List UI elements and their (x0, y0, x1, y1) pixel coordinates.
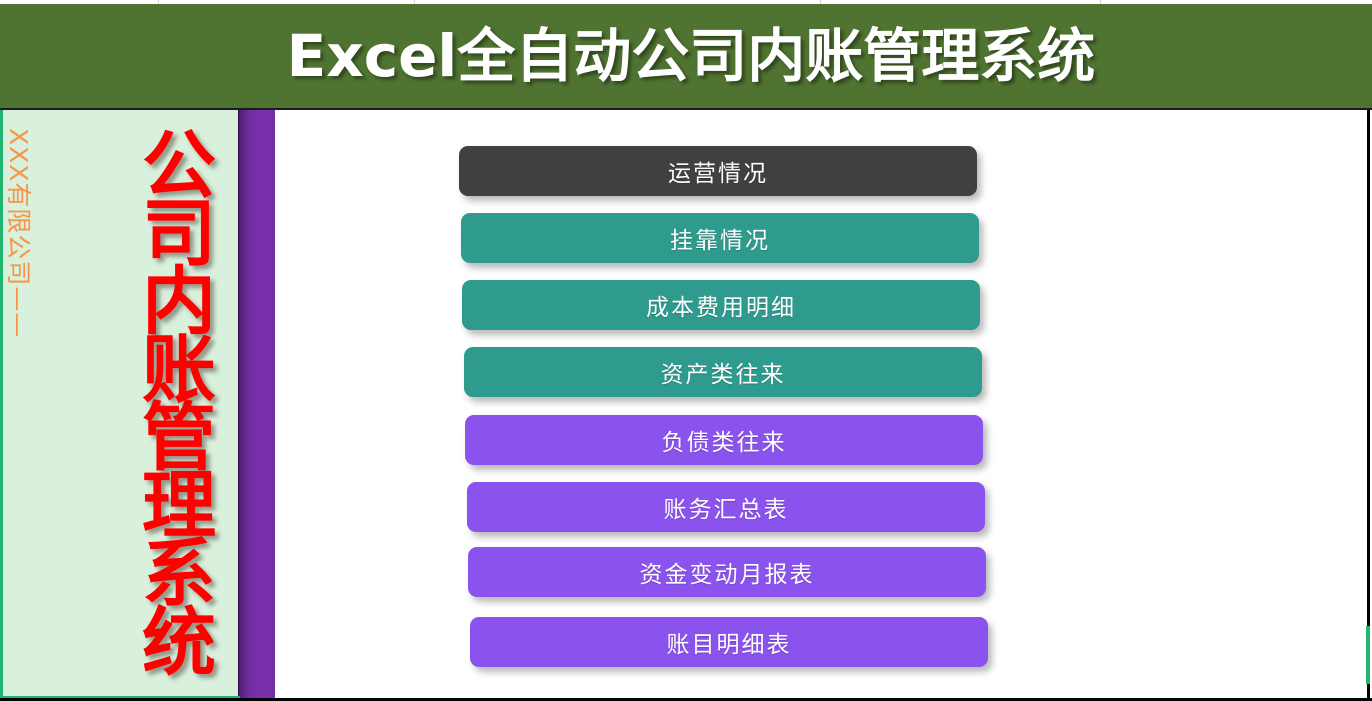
title-char: 内 (131, 268, 227, 336)
title-char: 系 (131, 540, 227, 608)
menu-button-label: 账目明细表 (667, 625, 792, 659)
menu-button-label: 资产类往来 (661, 355, 786, 389)
page-title: Excel全自动公司内账管理系统 (287, 27, 1096, 85)
right-border (1367, 110, 1370, 699)
menu-button-7[interactable]: 资金变动月报表 (468, 547, 986, 597)
menu-button-label: 负债类往来 (662, 423, 787, 457)
menu-button-1[interactable]: 运营情况 (459, 146, 977, 196)
menu-button-label: 运营情况 (668, 154, 768, 188)
sidebar-panel: XXX有限公司—— 公 司 内 账 管 理 系 统 (3, 110, 238, 699)
right-edge-accent-segment (1366, 626, 1370, 684)
menu-button-4[interactable]: 资产类往来 (464, 347, 982, 397)
title-char: 司 (131, 200, 227, 268)
main-content-panel (275, 110, 1370, 699)
title-char: 理 (131, 472, 227, 540)
title-char: 统 (131, 609, 227, 677)
excel-dashboard-sheet: Excel全自动公司内账管理系统 XXX有限公司—— 公 司 内 账 管 理 系… (0, 0, 1372, 701)
company-name-label: XXX有限公司—— (6, 128, 31, 338)
company-name-rotated: XXX有限公司—— (11, 128, 51, 428)
menu-button-6[interactable]: 账务汇总表 (467, 482, 985, 532)
menu-button-2[interactable]: 挂靠情况 (461, 213, 979, 263)
title-char: 账 (131, 336, 227, 404)
title-char: 公 (131, 132, 227, 200)
menu-button-8[interactable]: 账目明细表 (470, 617, 988, 667)
sidebar-accent-strip (238, 110, 275, 699)
sidebar-system-title: 公 司 内 账 管 理 系 统 (131, 132, 227, 677)
title-char: 管 (131, 404, 227, 472)
header-banner: Excel全自动公司内账管理系统 (0, 4, 1372, 108)
menu-button-label: 账务汇总表 (664, 490, 789, 524)
menu-button-label: 挂靠情况 (670, 221, 770, 255)
menu-button-label: 资金变动月报表 (640, 555, 815, 589)
menu-button-label: 成本费用明细 (646, 288, 796, 322)
menu-button-5[interactable]: 负债类往来 (465, 415, 983, 465)
menu-button-3[interactable]: 成本费用明细 (462, 280, 980, 330)
